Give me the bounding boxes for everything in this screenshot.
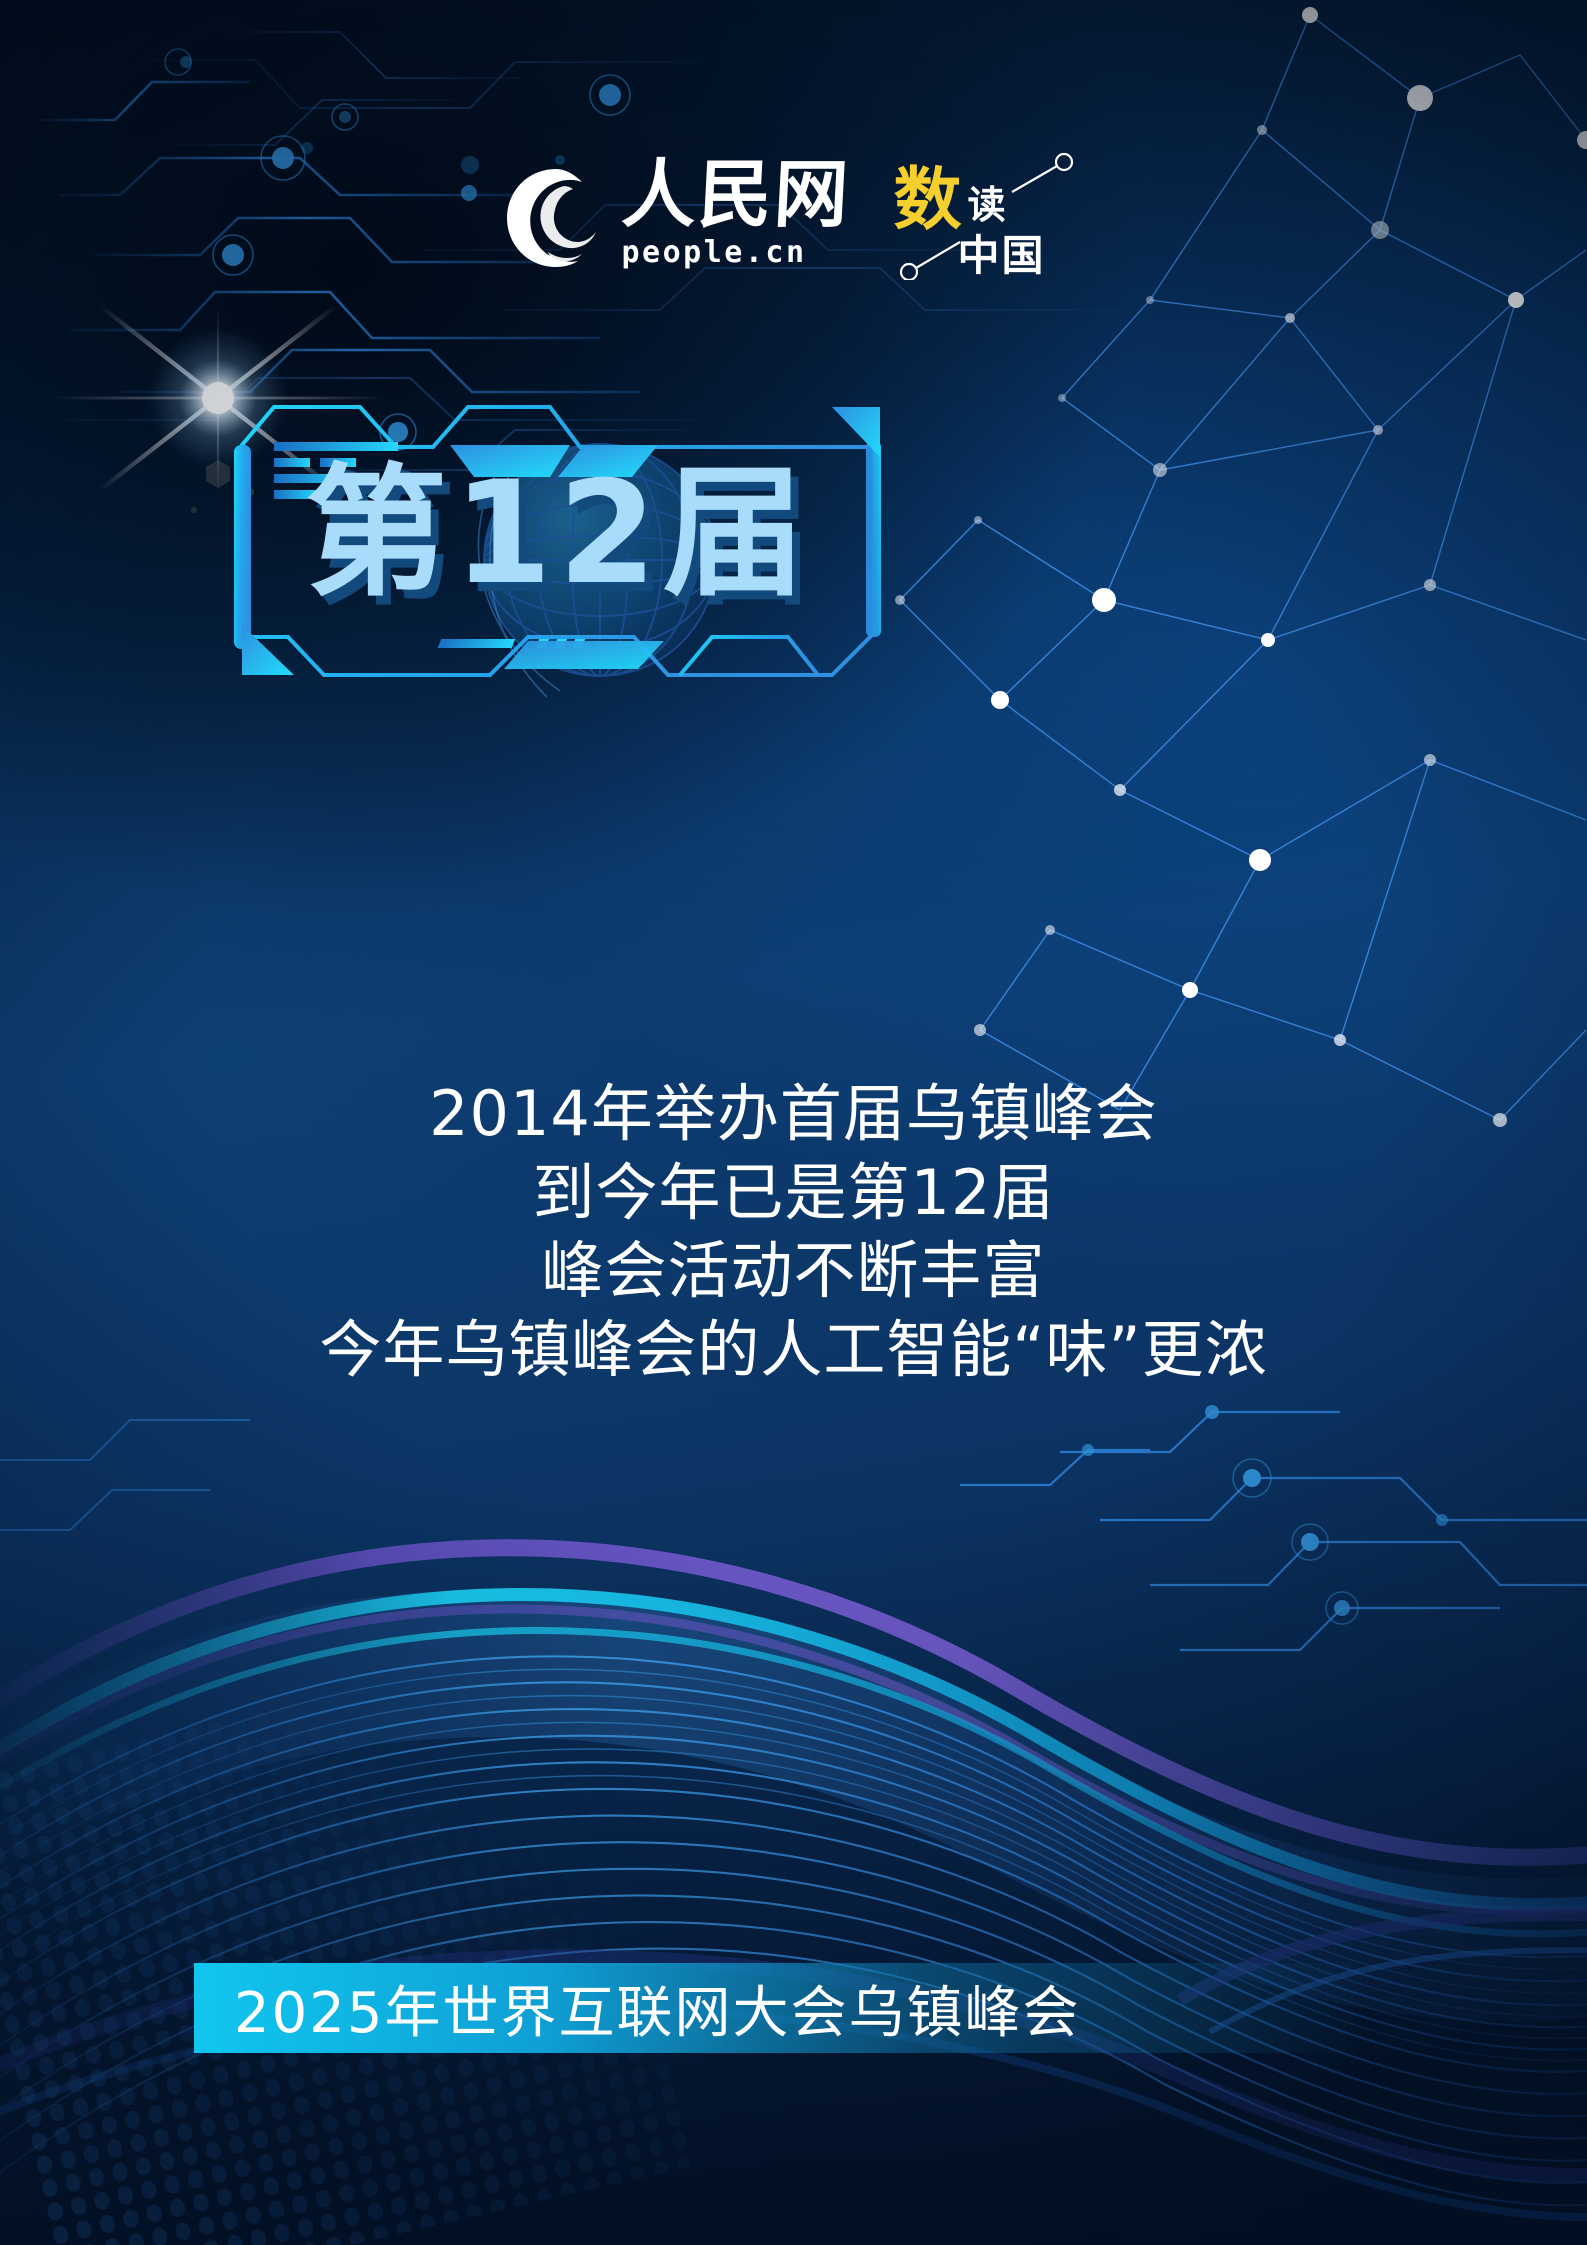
body-line-4: 今年乌镇峰会的人工智能“味”更浓 — [0, 1311, 1587, 1390]
footer-banner-text: 2025年世界互联网大会乌镇峰会 — [194, 1968, 1081, 2049]
shudu-char-du: 读 — [968, 174, 1006, 229]
body-line-2: 到今年已是第12届 — [0, 1154, 1587, 1233]
brand-header: 人民网 people.cn 数 读 中国 — [0, 150, 1587, 280]
poster-canvas: 第12届 人民网 people.cn — [0, 0, 1587, 2245]
hero-title: 第12届 — [228, 432, 888, 607]
hero-title-text: 第12届 — [305, 417, 811, 623]
footer-banner: 2025年世界互联网大会乌镇峰会 — [194, 1963, 1364, 2053]
people-cn-crescent-logo-icon — [504, 166, 608, 270]
body-copy: 2014年举办首届乌镇峰会 到今年已是第12届 峰会活动不断丰富 今年乌镇峰会的… — [0, 1075, 1587, 1390]
body-line-1: 2014年举办首届乌镇峰会 — [0, 1075, 1587, 1154]
shudu-char-shu: 数 — [894, 144, 962, 243]
body-line-3: 峰会活动不断丰富 — [0, 1232, 1587, 1311]
brand-name-en: people.cn — [622, 235, 807, 270]
brand-name-cn: 人民网 — [620, 160, 852, 230]
people-cn-logo: 人民网 people.cn — [504, 160, 850, 269]
shudu-zhongguo-column: 数 读 中国 — [894, 150, 1084, 280]
shudu-char-zhongguo: 中国 — [958, 222, 1046, 283]
